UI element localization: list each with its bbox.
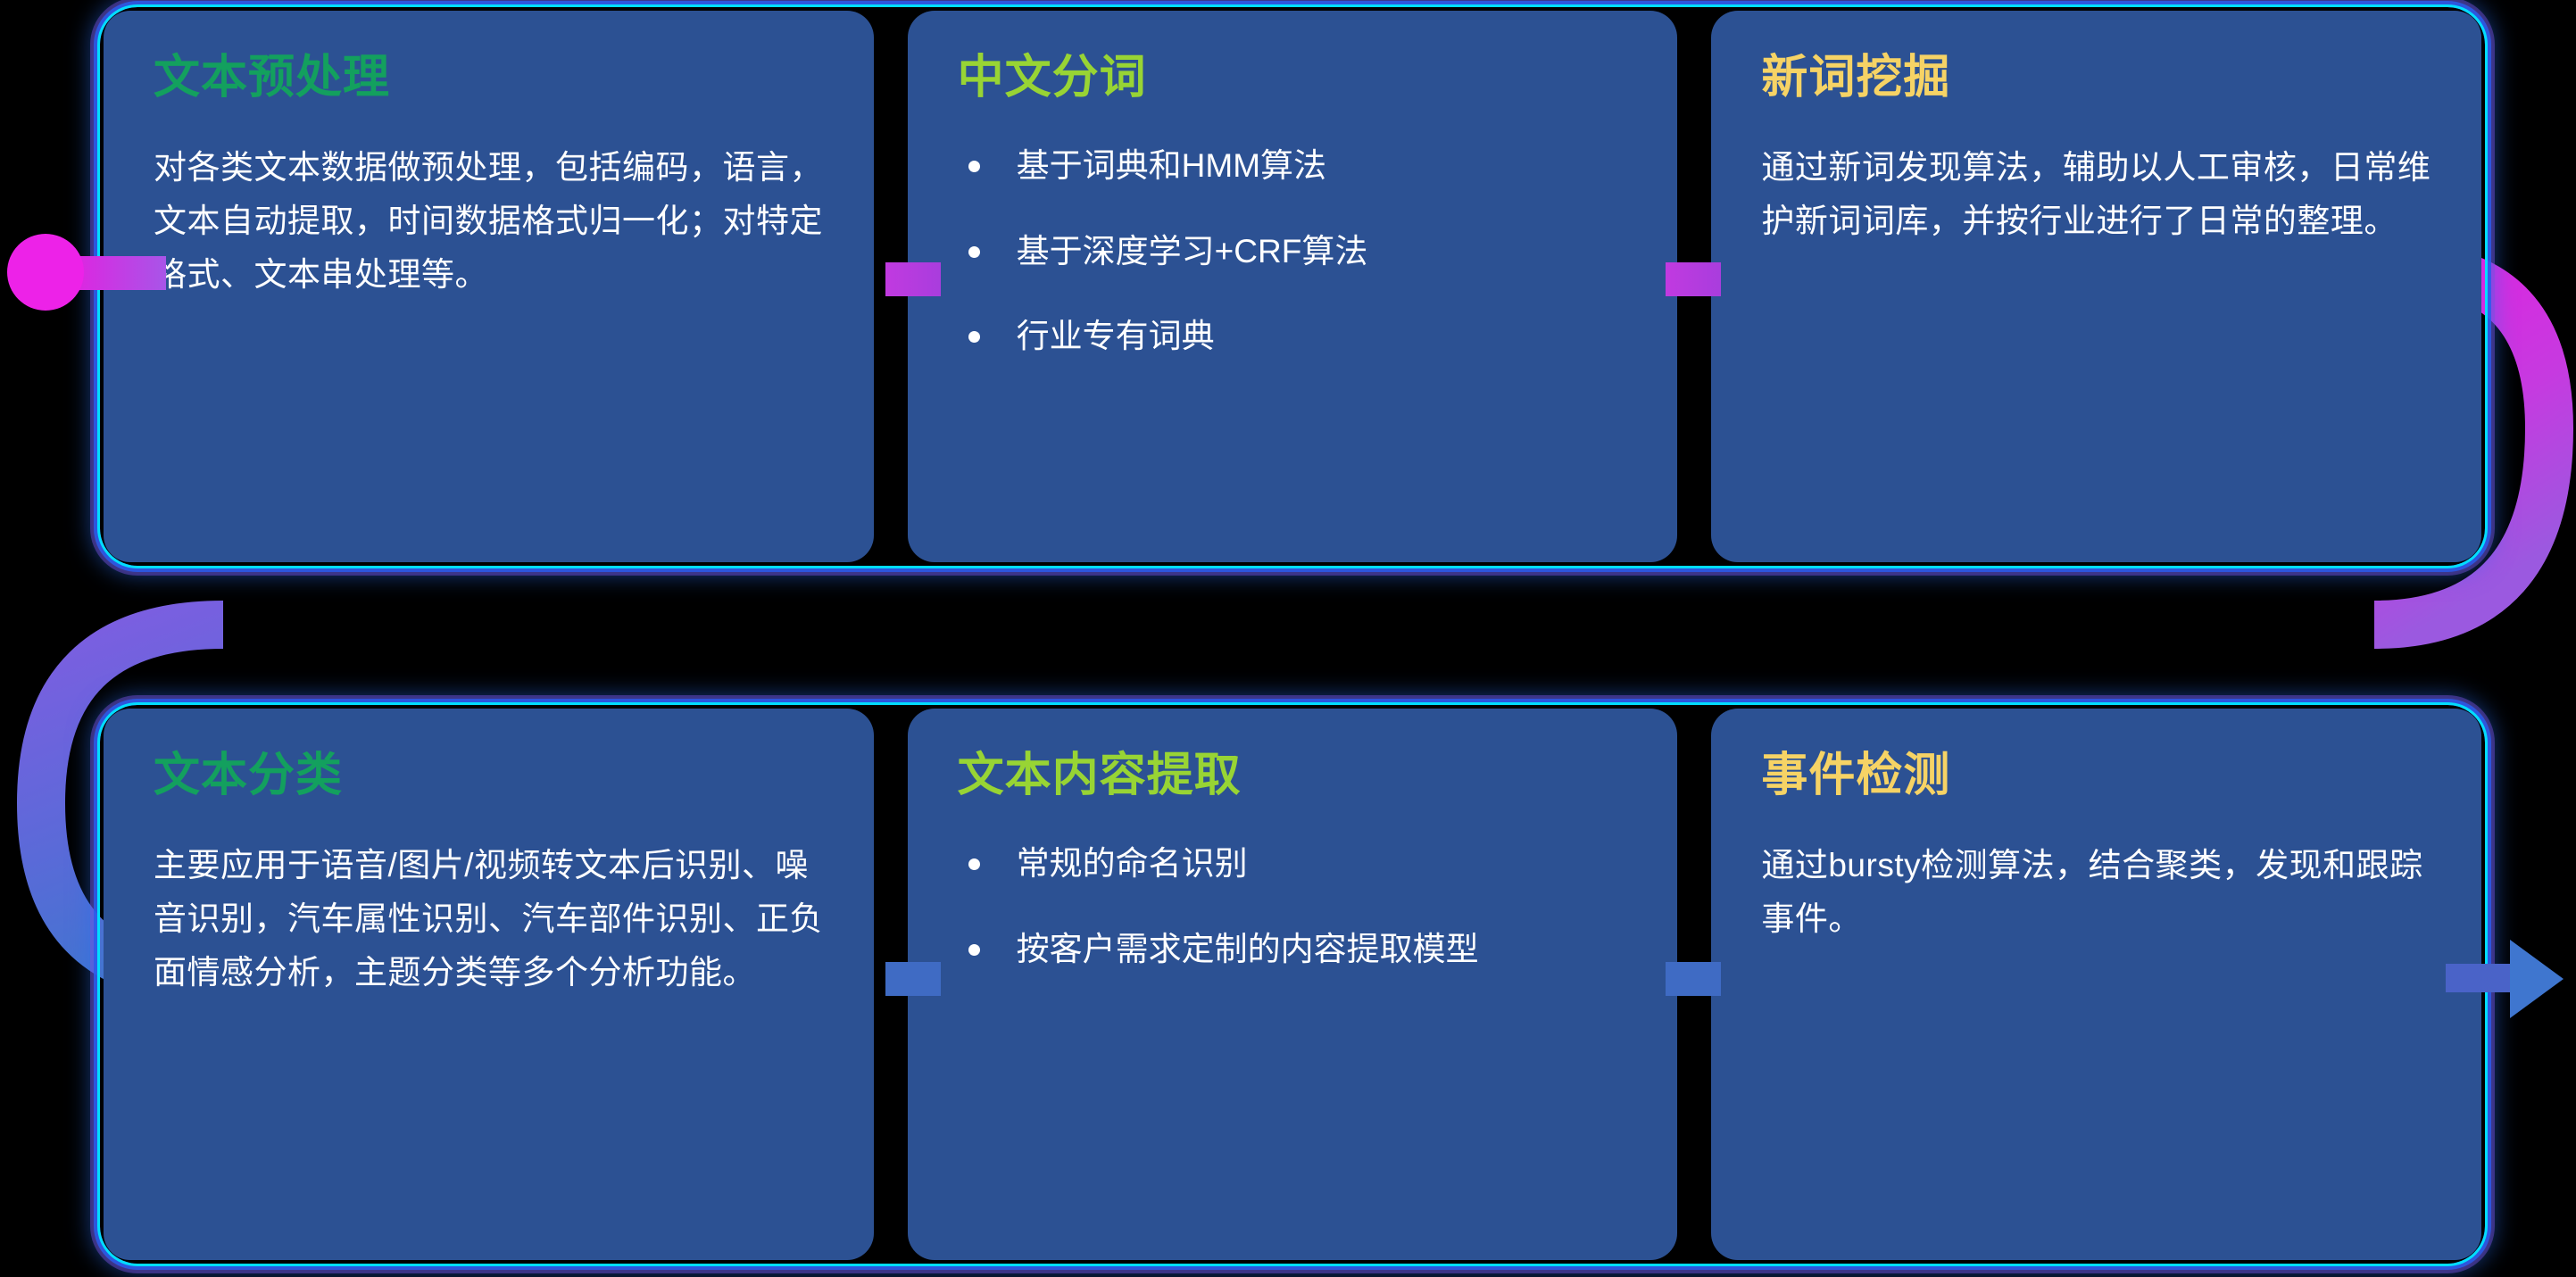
arrow-right-icon	[2510, 940, 2564, 1018]
card-title: 中文分词	[958, 52, 1628, 104]
connector-card5-card6	[1666, 962, 1721, 996]
card-new-word-discovery[interactable]: 新词挖掘 通过新词发现算法，辅助以人工审核，日常维护新词词库，并按行业进行了日常…	[1711, 11, 2481, 562]
list-item: 行业专有词典	[958, 311, 1628, 361]
process-row-2: 文本分类 主要应用于语音/图片/视频转文本后识别、噪音识别，汽车属性识别、汽车部…	[104, 709, 2481, 1260]
card-chinese-word-segmentation[interactable]: 中文分词 基于词典和HMM算法 基于深度学习+CRF算法 行业专有词典	[908, 11, 1678, 562]
card-body-text: 对各类文本数据做预处理，包括编码，语言，文本自动提取，时间数据格式归一化；对特定…	[154, 141, 824, 302]
process-row-1: 文本预处理 对各类文本数据做预处理，包括编码，语言，文本自动提取，时间数据格式归…	[104, 11, 2481, 562]
card-bullet-list: 常规的命名识别 按客户需求定制的内容提取模型	[958, 839, 1628, 974]
card-text-preprocessing[interactable]: 文本预处理 对各类文本数据做预处理，包括编码，语言，文本自动提取，时间数据格式归…	[104, 11, 874, 562]
connector-card4-card5	[885, 962, 941, 996]
card-title: 新词挖掘	[1761, 52, 2431, 104]
card-title: 文本分类	[154, 750, 824, 801]
diagram-canvas: 文本预处理 对各类文本数据做预处理，包括编码，语言，文本自动提取，时间数据格式归…	[0, 0, 2576, 1277]
card-bullet-list: 基于词典和HMM算法 基于深度学习+CRF算法 行业专有词典	[958, 141, 1628, 361]
card-title: 文本内容提取	[958, 750, 1628, 801]
card-title: 文本预处理	[154, 52, 824, 104]
list-item: 基于词典和HMM算法	[958, 141, 1628, 191]
list-item: 按客户需求定制的内容提取模型	[958, 925, 1628, 974]
card-text-classification[interactable]: 文本分类 主要应用于语音/图片/视频转文本后识别、噪音识别，汽车属性识别、汽车部…	[104, 709, 874, 1260]
card-title: 事件检测	[1761, 750, 2431, 801]
flow-start-dot	[7, 234, 84, 311]
list-item: 基于深度学习+CRF算法	[958, 227, 1628, 277]
card-body-text: 主要应用于语音/图片/视频转文本后识别、噪音识别，汽车属性识别、汽车部件识别、正…	[154, 839, 824, 999]
card-text-content-extraction[interactable]: 文本内容提取 常规的命名识别 按客户需求定制的内容提取模型	[908, 709, 1678, 1260]
card-body-text: 通过bursty检测算法，结合聚类，发现和跟踪事件。	[1761, 839, 2431, 946]
connector-card1-card2	[885, 262, 941, 296]
connector-card2-card3	[1666, 262, 1721, 296]
list-item: 常规的命名识别	[958, 839, 1628, 889]
card-body-text: 通过新词发现算法，辅助以人工审核，日常维护新词词库，并按行业进行了日常的整理。	[1761, 141, 2431, 248]
card-event-detection[interactable]: 事件检测 通过bursty检测算法，结合聚类，发现和跟踪事件。	[1711, 709, 2481, 1260]
